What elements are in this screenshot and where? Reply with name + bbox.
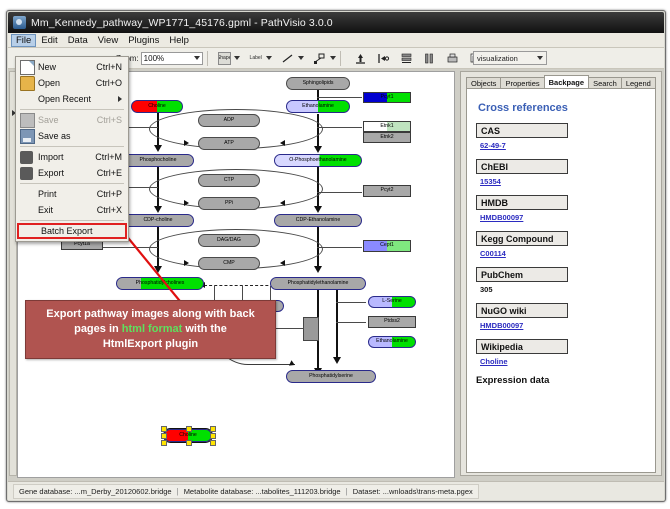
- menu-item-save: Save Ctrl+S: [16, 112, 128, 128]
- node-ctp[interactable]: CTP: [198, 174, 260, 187]
- menu-item-export-label: Export: [38, 168, 64, 178]
- menu-separator-3: [20, 183, 124, 184]
- group-icon[interactable]: [446, 51, 460, 65]
- side-panel: Objects Properties Backpage Search Legen…: [460, 71, 662, 476]
- node-cdp-ethanolamine[interactable]: CDP-Ethanolamine: [274, 214, 362, 227]
- label-dropdown-icon[interactable]: [266, 56, 272, 60]
- xref-source-nugo: NuGO wiki: [476, 303, 568, 318]
- toolbar-divider-2: [340, 51, 341, 66]
- node-label: Phosphatidylserine: [309, 374, 353, 379]
- visualization-value: visualization: [477, 54, 518, 63]
- menu-item-print-label: Print: [38, 189, 57, 199]
- menu-item-save-as[interactable]: Save as: [16, 128, 128, 144]
- menu-help[interactable]: Help: [164, 34, 194, 47]
- open-folder-icon: [20, 76, 35, 91]
- menu-separator-2: [20, 146, 124, 147]
- menu-item-open-label: Open: [38, 78, 60, 88]
- backpage-content[interactable]: Cross references CAS 62-49-7 ChEBI 15354…: [466, 88, 656, 473]
- status-bar: Gene database: ...m_Derby_20120602.bridg…: [8, 481, 664, 500]
- callout-line-2-b: with the: [182, 323, 227, 335]
- connector-cept1-line: [317, 247, 362, 248]
- status-gene-database: Gene database: ...m_Derby_20120602.bridg…: [14, 487, 177, 496]
- distribute-vertical-icon[interactable]: [400, 51, 414, 65]
- node-label: ATP: [224, 141, 234, 146]
- node-cept1[interactable]: Cept1: [363, 240, 411, 252]
- xref-source-chebi: ChEBI: [476, 159, 568, 174]
- menu-item-open-recent-label: Open Recent: [38, 94, 91, 104]
- title-bar: Mm_Kennedy_pathway_WP1771_45176.gpml - P…: [8, 12, 664, 33]
- selection-handle-tc[interactable]: [186, 426, 192, 432]
- node-atp[interactable]: ATP: [198, 137, 260, 150]
- menu-item-batch-export-label: Batch Export: [41, 226, 93, 236]
- node-ethanolamine[interactable]: Ethanolamine: [286, 100, 350, 113]
- connector-pcyt1-top-line: [317, 97, 362, 98]
- selection-handle-br[interactable]: [210, 440, 216, 446]
- callout-highlight: html format: [122, 323, 183, 335]
- xref-source-pubchem: PubChem: [476, 267, 568, 282]
- node-label: CDP-Ethanolamine: [296, 218, 340, 223]
- node-label: Choline: [179, 433, 197, 438]
- zoom-value: 100%: [144, 54, 164, 63]
- connector-ptdss2-line: [336, 322, 366, 323]
- selection-handle-bc[interactable]: [186, 440, 192, 446]
- xref-link-hmdb[interactable]: HMDB00097: [480, 213, 655, 222]
- xref-value-pubchem: 305: [480, 285, 655, 294]
- node-label: Etnk1: [380, 124, 393, 129]
- node-label: Ethanolamine: [302, 104, 334, 109]
- node-label: Pcyt1a: [74, 242, 90, 247]
- cross-references-heading: Cross references: [478, 102, 655, 114]
- save-as-icon: [20, 129, 35, 144]
- menu-item-new-label: New: [38, 62, 56, 72]
- node-adp[interactable]: ADP: [198, 114, 260, 127]
- menu-item-new-accel: Ctrl+N: [96, 62, 122, 72]
- arrowhead-ppi-right: [280, 200, 285, 206]
- callout-line-3: HtmlExport plugin: [103, 337, 198, 352]
- chevron-down-icon: [194, 56, 200, 60]
- node-ppi[interactable]: PPi: [198, 197, 260, 210]
- xref-link-cas[interactable]: 62-49-7: [480, 141, 655, 150]
- node-label: CTP: [224, 178, 234, 183]
- window-title: Mm_Kennedy_pathway_WP1771_45176.gpml - P…: [31, 17, 333, 29]
- node-label: Ethanolamine: [376, 339, 408, 344]
- node-ptdss2[interactable]: Ptdss2: [368, 316, 416, 328]
- menu-item-open-accel: Ctrl+O: [96, 78, 122, 88]
- connector-pcyt2-line: [317, 192, 362, 193]
- node-pcyt2[interactable]: Pcyt2: [363, 185, 411, 197]
- arrowhead-ppi: [184, 200, 189, 206]
- new-document-icon: [20, 60, 35, 75]
- selection-handle-mr[interactable]: [210, 433, 216, 439]
- arrowhead-atp: [184, 140, 189, 146]
- status-metabolite-database: Metabolite database: ...tabolites_111203…: [179, 487, 346, 496]
- selection-handle-bl[interactable]: [161, 440, 167, 446]
- menu-separator-4: [20, 220, 124, 221]
- xref-source-kegg: Kegg Compound: [476, 231, 568, 246]
- menu-item-new[interactable]: New Ctrl+N: [16, 59, 128, 75]
- arrowhead-cmp-right: [280, 260, 285, 266]
- node-label: ADP: [224, 118, 235, 123]
- screenshot-root: Mm_Kennedy_pathway_WP1771_45176.gpml - P…: [0, 0, 670, 509]
- menu-item-exit-label: Exit: [38, 205, 53, 215]
- chevron-down-icon: [537, 56, 543, 60]
- node-etnk1[interactable]: Etnk1: [363, 121, 411, 132]
- interaction-dropdown-icon[interactable]: [330, 56, 336, 60]
- menu-separator-1: [20, 109, 124, 110]
- file-menu-popup[interactable]: New Ctrl+N Open Ctrl+O Open Recent Save …: [15, 56, 129, 242]
- save-icon: [20, 113, 35, 128]
- callout-line-1: Export pathway images along with back: [46, 307, 254, 322]
- node-label: L-Serine: [382, 299, 402, 304]
- arrow-ptdserine-up: [336, 288, 338, 358]
- node-label: Sphingolipids: [303, 81, 334, 86]
- connector-lserine-line: [336, 302, 366, 303]
- import-icon: [20, 151, 33, 164]
- menu-item-save-accel: Ctrl+S: [97, 115, 122, 125]
- node-label: Choline: [148, 104, 166, 109]
- line-dropdown-icon[interactable]: [298, 56, 304, 60]
- menu-item-save-as-label: Save as: [38, 131, 71, 141]
- status-dataset: Dataset: ...wnloads\trans-meta.pgex: [348, 487, 478, 496]
- menu-item-exit-accel: Ctrl+X: [97, 205, 122, 215]
- align-top-icon[interactable]: [354, 51, 368, 65]
- menu-item-open-recent[interactable]: Open Recent: [16, 91, 128, 107]
- node-label: Etnk2: [380, 135, 393, 140]
- node-label: Pcyt2: [381, 188, 394, 193]
- node-l-serine[interactable]: L-Serine: [368, 296, 416, 308]
- node-pcyt1[interactable]: Pcyt1: [363, 92, 411, 103]
- menu-bar: File Edit Data View Plugins Help: [8, 33, 664, 48]
- xref-link-nugo[interactable]: HMDB00097: [480, 321, 655, 330]
- menu-item-exit[interactable]: Exit Ctrl+X: [16, 202, 128, 218]
- xref-source-cas: CAS: [476, 123, 568, 138]
- node-label: Phosphatidylethanolamine: [288, 281, 349, 286]
- node-sphingolipids[interactable]: Sphingolipids: [286, 77, 350, 90]
- xref-source-hmdb: HMDB: [476, 195, 568, 210]
- align-left-icon[interactable]: [377, 51, 391, 65]
- xref-link-wikipedia[interactable]: Choline: [480, 357, 655, 366]
- menu-item-print-accel: Ctrl+P: [97, 189, 122, 199]
- reaction-node: [303, 317, 319, 341]
- menu-item-save-label: Save: [38, 115, 59, 125]
- menu-plugins[interactable]: Plugins: [123, 34, 164, 47]
- node-label: Cept1: [380, 243, 394, 248]
- node-phosphatidylethanolamine[interactable]: Phosphatidylethanolamine: [270, 277, 366, 290]
- interaction-tool-icon[interactable]: [313, 51, 327, 65]
- pathvisio-window: Mm_Kennedy_pathway_WP1771_45176.gpml - P…: [6, 10, 666, 502]
- side-panel-tabs: Objects Properties Backpage Search Legen…: [466, 75, 655, 89]
- xref-source-wikipedia: Wikipedia: [476, 339, 568, 354]
- label-tool-button[interactable]: Label: [249, 51, 263, 65]
- arrowhead-ptdserine-in: [289, 360, 296, 368]
- menu-item-import-accel: Ctrl+M: [95, 152, 122, 162]
- annotation-callout: Export pathway images along with back pa…: [25, 300, 276, 359]
- connector-etnk-line: [317, 127, 362, 128]
- shape-dropdown-icon[interactable]: [234, 56, 240, 60]
- callout-line-2: pages in html format with the: [74, 322, 227, 337]
- menu-item-export-accel: Ctrl+E: [97, 168, 122, 178]
- menu-item-export[interactable]: Export Ctrl+E: [16, 165, 128, 181]
- menu-item-import[interactable]: Import Ctrl+M: [16, 149, 128, 165]
- callout-line-2-a: pages in: [74, 323, 122, 335]
- arrowhead-atp-right: [280, 140, 285, 146]
- status-bar-inner: Gene database: ...m_Derby_20120602.bridg…: [13, 484, 479, 499]
- node-o-phosphoethanolamine[interactable]: O-Phosphoethanolamine: [274, 154, 362, 167]
- menu-item-print[interactable]: Print Ctrl+P: [16, 186, 128, 202]
- node-phosphatidylserine[interactable]: Phosphatidylserine: [286, 370, 376, 383]
- export-icon: [20, 167, 33, 180]
- node-ethanolamine-2[interactable]: Ethanolamine: [368, 336, 416, 348]
- tab-backpage[interactable]: Backpage: [544, 75, 589, 89]
- expression-data-heading: Expression data: [476, 375, 655, 386]
- selection-handle-tl[interactable]: [161, 426, 167, 432]
- node-etnk2[interactable]: Etnk2: [363, 132, 411, 143]
- xref-link-kegg[interactable]: C00114: [480, 249, 655, 258]
- menu-edit[interactable]: Edit: [36, 34, 62, 47]
- selection-handle-ml[interactable]: [161, 433, 167, 439]
- menu-data[interactable]: Data: [63, 34, 93, 47]
- menu-file[interactable]: File: [11, 34, 36, 47]
- shape-tool-button[interactable]: Shape: [218, 52, 231, 65]
- node-choline[interactable]: Choline: [131, 100, 183, 113]
- node-label: Phosphocholine: [140, 158, 177, 163]
- xref-link-chebi[interactable]: 15354: [480, 177, 655, 186]
- visualization-combobox[interactable]: visualization: [473, 51, 547, 65]
- line-tool-icon[interactable]: [281, 51, 295, 65]
- node-phosphocholine[interactable]: Phosphocholine: [122, 154, 194, 167]
- node-label: Ptdss2: [384, 319, 400, 324]
- submenu-arrow-icon: [118, 96, 122, 102]
- node-label: O-Phosphoethanolamine: [289, 158, 346, 163]
- menu-item-batch-export[interactable]: Batch Export: [17, 223, 127, 239]
- menu-item-import-label: Import: [38, 152, 64, 162]
- distribute-horizontal-icon[interactable]: [423, 51, 437, 65]
- menu-item-open[interactable]: Open Ctrl+O: [16, 75, 128, 91]
- zoom-combobox[interactable]: 100%: [141, 52, 203, 65]
- node-label: PPi: [225, 201, 233, 206]
- selection-handle-tr[interactable]: [210, 426, 216, 432]
- toolbar-divider: [207, 51, 208, 66]
- app-icon: [13, 16, 26, 29]
- menu-view[interactable]: View: [93, 34, 123, 47]
- node-label: Pcyt1: [381, 95, 394, 100]
